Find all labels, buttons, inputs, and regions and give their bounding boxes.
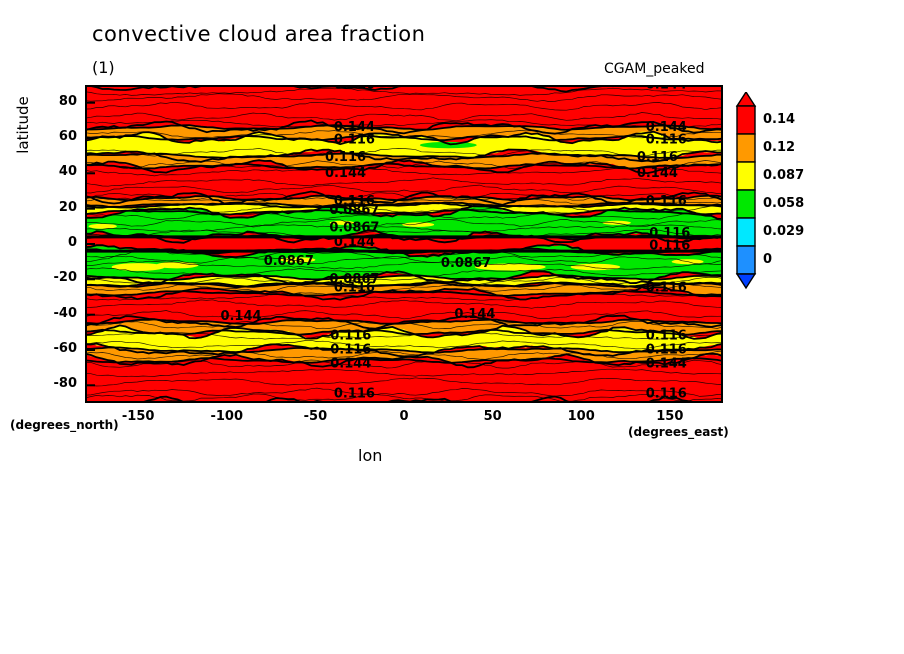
colorbar-legend: 0.140.120.0870.0580.0290 xyxy=(733,92,893,292)
x-axis-tick-label: -100 xyxy=(197,409,257,424)
colorbar-tick-label: 0.087 xyxy=(763,168,804,183)
colorbar-tick-label: 0.14 xyxy=(763,112,795,127)
colorbar-tick-label: 0.029 xyxy=(763,224,804,239)
x-axis-tick-label: 100 xyxy=(551,409,611,424)
colorbar-tick-label: 0 xyxy=(763,252,772,267)
x-axis-tick-label: -50 xyxy=(285,409,345,424)
x-axis-tick-label: 0 xyxy=(374,409,434,424)
colorbar-tick-label: 0.12 xyxy=(763,140,795,155)
x-axis-tick-label: -150 xyxy=(108,409,168,424)
x-axis-tick-label: 150 xyxy=(640,409,700,424)
colorbar-tick-label: 0.058 xyxy=(763,196,804,211)
x-axis-tick-label: 50 xyxy=(463,409,523,424)
colorbar-swatches xyxy=(733,92,763,292)
